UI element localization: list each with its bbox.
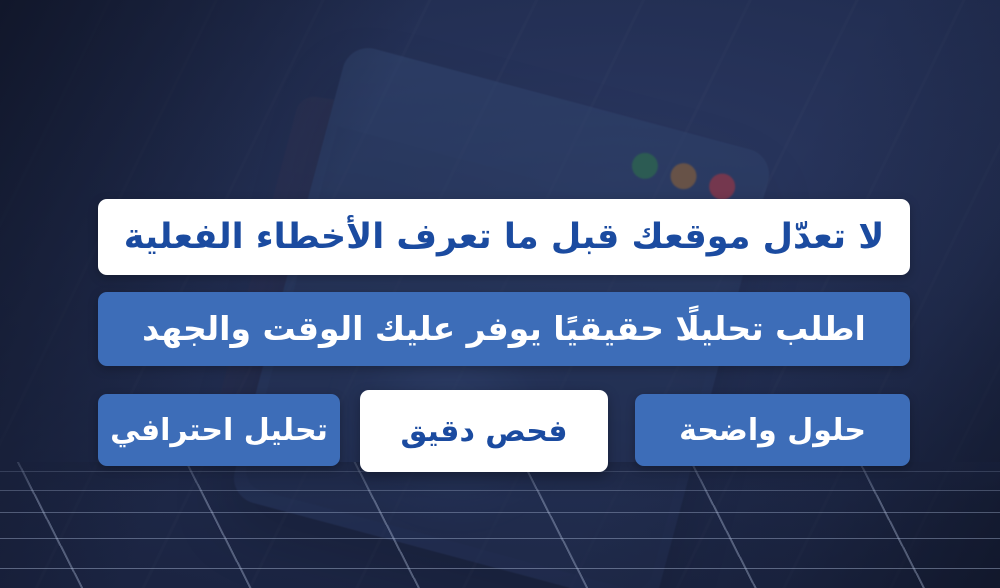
chip-scan[interactable]: فحص دقيق	[360, 390, 608, 472]
subline-banner: اطلب تحليلًا حقيقيًا يوفر عليك الوقت وال…	[98, 292, 910, 366]
chip-solutions[interactable]: حلول واضحة	[635, 394, 910, 466]
headline-banner: لا تعدّل موقعك قبل ما تعرف الأخطاء الفعل…	[98, 199, 910, 275]
headline-text: لا تعدّل موقعك قبل ما تعرف الأخطاء الفعل…	[124, 217, 885, 257]
chip-scan-label: فحص دقيق	[401, 415, 568, 448]
promo-banner-canvas: لا تعدّل موقعك قبل ما تعرف الأخطاء الفعل…	[0, 0, 1000, 588]
content-layer: لا تعدّل موقعك قبل ما تعرف الأخطاء الفعل…	[0, 0, 1000, 588]
chip-solutions-label: حلول واضحة	[679, 414, 866, 447]
subline-text: اطلب تحليلًا حقيقيًا يوفر عليك الوقت وال…	[142, 310, 866, 348]
chip-pro-label: تحليل احترافي	[110, 414, 328, 447]
feature-chip-row: حلول واضحة فحص دقيق تحليل احترافي	[98, 390, 910, 472]
chip-pro[interactable]: تحليل احترافي	[98, 394, 340, 466]
